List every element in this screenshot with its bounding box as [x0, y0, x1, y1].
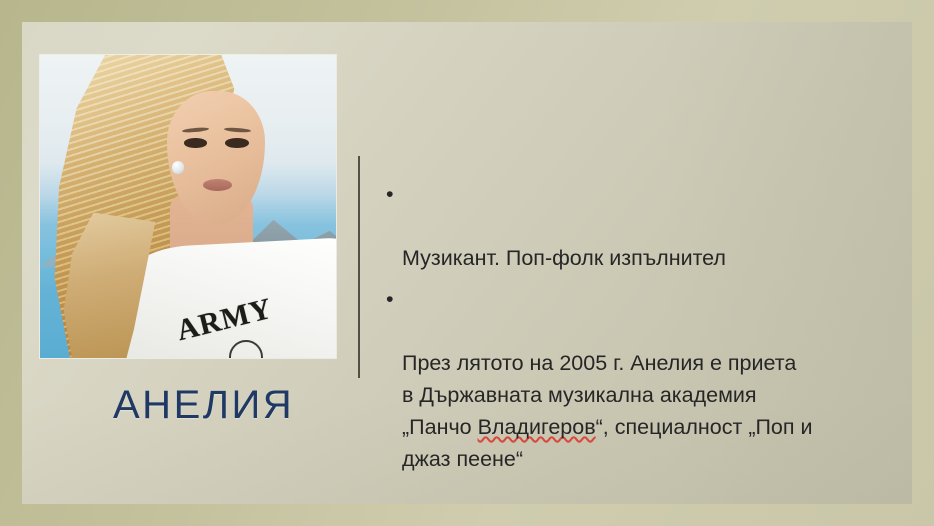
bullet-item-1[interactable]: • Музикант. Поп-фолк изпълнител — [384, 178, 904, 274]
vertical-divider — [358, 156, 360, 378]
photo-eye-left — [184, 138, 208, 148]
content-placeholder[interactable]: • Музикант. Поп-фолк изпълнител • През л… — [384, 178, 904, 484]
bullet-marker: • — [386, 283, 394, 315]
slide-title[interactable]: АНЕЛИЯ — [113, 383, 294, 428]
portrait-photo: ARMY — [40, 55, 336, 358]
slide-image-frame[interactable]: ARMY — [40, 55, 336, 358]
presentation-slide: ARMY • Музикант. Поп-фолк изпълнител • П… — [0, 0, 934, 526]
bullet-item-2[interactable]: • През лятото на 2005 г. Анелия е приета… — [384, 283, 904, 475]
photo-shirt — [120, 237, 336, 358]
bullet-text: Музикант. Поп-фолк изпълнител — [402, 246, 726, 270]
photo-eye-right — [225, 138, 249, 148]
bullet-marker: • — [386, 178, 394, 210]
misspelled-word[interactable]: Владигеров — [478, 415, 596, 439]
photo-earring — [172, 161, 184, 174]
